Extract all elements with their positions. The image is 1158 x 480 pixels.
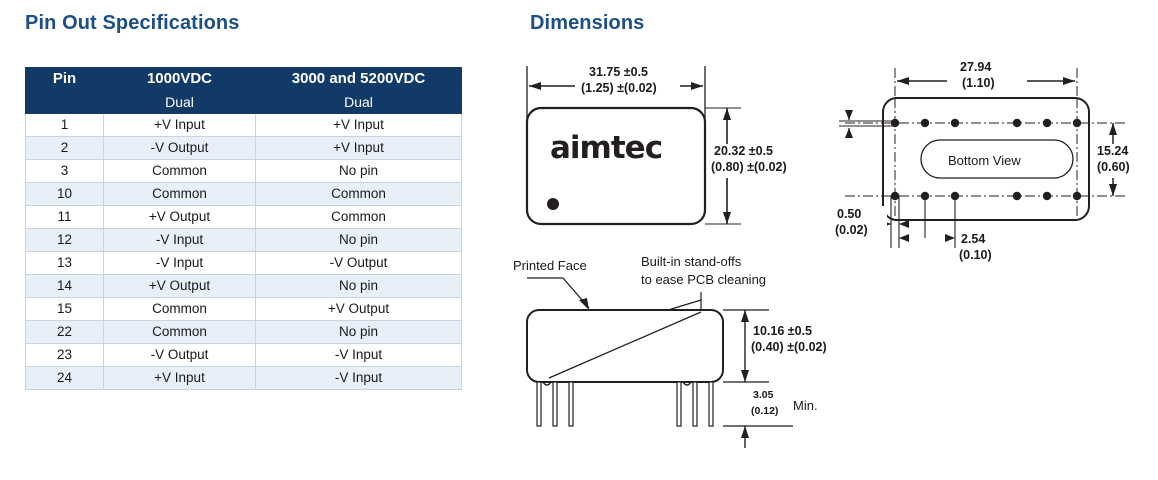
bottom-height-in: (0.60) [1097,160,1130,174]
pin-function-3000-5200vdc: Common [256,206,462,229]
pin-function-3000-5200vdc: Common [256,183,462,206]
pin-function-3000-5200vdc: -V Output [256,252,462,275]
pins-right [677,382,713,426]
top-height-in: (0.80) ±(0.02) [711,160,787,174]
table-row: 1+V Input+V Input [26,114,462,137]
pin-dot-icon [921,119,929,127]
arrow-down-icon [741,370,749,382]
pin-number: 10 [26,183,104,206]
table-head: Pin 1000VDC 3000 and 5200VDC Dual Dual [26,68,462,114]
pin-dot-icon [1013,119,1021,127]
page-title-dimensions: Dimensions [530,12,644,35]
arrow-down-icon [845,110,853,120]
pin-dot-icon [951,119,959,127]
arrow-down-icon [579,298,589,310]
arrow-up-icon [845,128,853,138]
table-row: 15Common+V Output [26,298,462,321]
pin-function-3000-5200vdc: No pin [256,160,462,183]
table-subheader-row: Dual Dual [26,91,462,114]
aimtec-logo: aimtec [550,130,662,166]
pin-icon [569,382,573,426]
standoff-label-line1: Built-in stand-offs [641,254,742,269]
pin-number: 22 [26,321,104,344]
column-header-3000-5200vdc: 3000 and 5200VDC [256,68,462,91]
subheader-3000-5200vdc-dual: Dual [256,91,462,114]
arrow-up-icon [1109,123,1117,135]
pin-function-3000-5200vdc: -V Input [256,344,462,367]
subheader-1000vdc-dual: Dual [104,91,256,114]
pin-number: 13 [26,252,104,275]
pin-dot-icon [1043,192,1051,200]
table-row: 13-V Input-V Output [26,252,462,275]
pin-dot-icon [1043,119,1051,127]
pin-icon [537,382,541,426]
pin-function-1000vdc: -V Input [104,229,256,252]
pin-number: 15 [26,298,104,321]
pin-dot-icon [1073,192,1081,200]
arrow-up-icon [741,426,749,438]
table-row: 22CommonNo pin [26,321,462,344]
table-row: 23-V Output-V Input [26,344,462,367]
pin1-marker-dot-icon [547,198,559,210]
top-view-drawing: 31.75 ±0.5 (1.25) ±(0.02) aimtec 20.32 ±… [505,48,835,243]
pin-function-1000vdc: Common [104,183,256,206]
side-height-mm: 10.16 ±0.5 [753,324,812,338]
pin-function-3000-5200vdc: No pin [256,275,462,298]
table-row: 12-V InputNo pin [26,229,462,252]
pin-dot-icon [1013,192,1021,200]
edge-offset-mm: 0.50 [837,207,861,221]
table-body: 1+V Input+V Input2-V Output+V Input3Comm… [26,114,462,390]
pin-number: 11 [26,206,104,229]
pin-pitch-in: (0.10) [959,248,992,262]
pin-function-1000vdc: -V Output [104,344,256,367]
module-body-side [527,310,723,382]
pin-function-1000vdc: +V Input [104,367,256,390]
standoff-min-label: Min. [793,398,818,413]
page-title-pinout: Pin Out Specifications [25,12,239,35]
pin-function-1000vdc: -V Output [104,137,256,160]
top-width-in: (1.25) ±(0.02) [581,81,657,95]
bottom-width-in: (1.10) [962,76,995,90]
pin-function-1000vdc: +V Output [104,206,256,229]
table-row: 24+V Input-V Input [26,367,462,390]
pin-number: 24 [26,367,104,390]
pin-number: 3 [26,160,104,183]
pin-function-3000-5200vdc: +V Output [256,298,462,321]
pin-icon [693,382,697,426]
pin-number: 14 [26,275,104,298]
table-row: 10CommonCommon [26,183,462,206]
side-height-in: (0.40) ±(0.02) [751,340,827,354]
pin-function-3000-5200vdc: No pin [256,321,462,344]
pin-dot-icon [1073,119,1081,127]
pins-left [537,382,573,426]
arrow-left-icon [897,77,909,85]
subheader-pin [26,91,104,114]
arrow-right-icon [691,82,703,90]
standoff-height-in: (0.12) [751,405,778,417]
pinout-table: Pin 1000VDC 3000 and 5200VDC Dual Dual 1… [25,67,462,390]
arrow-left-icon [899,220,909,228]
top-height-mm: 20.32 ±0.5 [714,144,773,158]
top-width-mm: 31.75 ±0.5 [589,65,648,79]
table-row: 11+V OutputCommon [26,206,462,229]
pin-number: 23 [26,344,104,367]
edge-offset-in: (0.02) [835,223,868,237]
table-row: 14+V OutputNo pin [26,275,462,298]
side-view-drawing: Printed Face Built-in stand-offs to ease… [505,252,845,472]
pin-number: 2 [26,137,104,160]
pin-function-1000vdc: +V Output [104,275,256,298]
bottom-view-label: Bottom View [948,153,1021,168]
pin-function-3000-5200vdc: No pin [256,229,462,252]
arrow-left-icon [899,234,909,242]
pin-function-1000vdc: +V Input [104,114,256,137]
bottom-width-mm: 27.94 [960,60,991,74]
arrow-right-icon [945,234,955,242]
arrow-up-icon [723,108,731,120]
bottom-view-drawing: 27.94 (1.10) Bottom View [835,48,1155,273]
pin-function-3000-5200vdc: -V Input [256,367,462,390]
arrow-left-icon [529,82,541,90]
printed-face-label: Printed Face [513,258,587,273]
standoff-label-line2: to ease PCB cleaning [641,272,766,287]
arrow-down-icon [1109,184,1117,196]
arrow-down-icon [723,212,731,224]
column-header-pin: Pin [26,68,104,91]
pin-function-1000vdc: Common [104,298,256,321]
standoff-height-mm: 3.05 [753,389,774,401]
pin-dot-icon [891,192,899,200]
pin-function-3000-5200vdc: +V Input [256,137,462,160]
table-header-row: Pin 1000VDC 3000 and 5200VDC [26,68,462,91]
pin-icon [553,382,557,426]
pin-function-1000vdc: -V Input [104,252,256,275]
column-header-1000vdc: 1000VDC [104,68,256,91]
datasheet-page: Pin Out Specifications Dimensions Pin 10… [0,0,1158,480]
pin-pitch-mm: 2.54 [961,232,985,246]
pin-function-1000vdc: Common [104,321,256,344]
table-row: 2-V Output+V Input [26,137,462,160]
pin-icon [677,382,681,426]
pin-function-1000vdc: Common [104,160,256,183]
bottom-height-mm: 15.24 [1097,144,1128,158]
arrow-right-icon [1063,77,1075,85]
arrow-up-icon [741,310,749,322]
pin-function-3000-5200vdc: +V Input [256,114,462,137]
pin-number: 12 [26,229,104,252]
table-row: 3CommonNo pin [26,160,462,183]
pin-number: 1 [26,114,104,137]
pin-icon [709,382,713,426]
